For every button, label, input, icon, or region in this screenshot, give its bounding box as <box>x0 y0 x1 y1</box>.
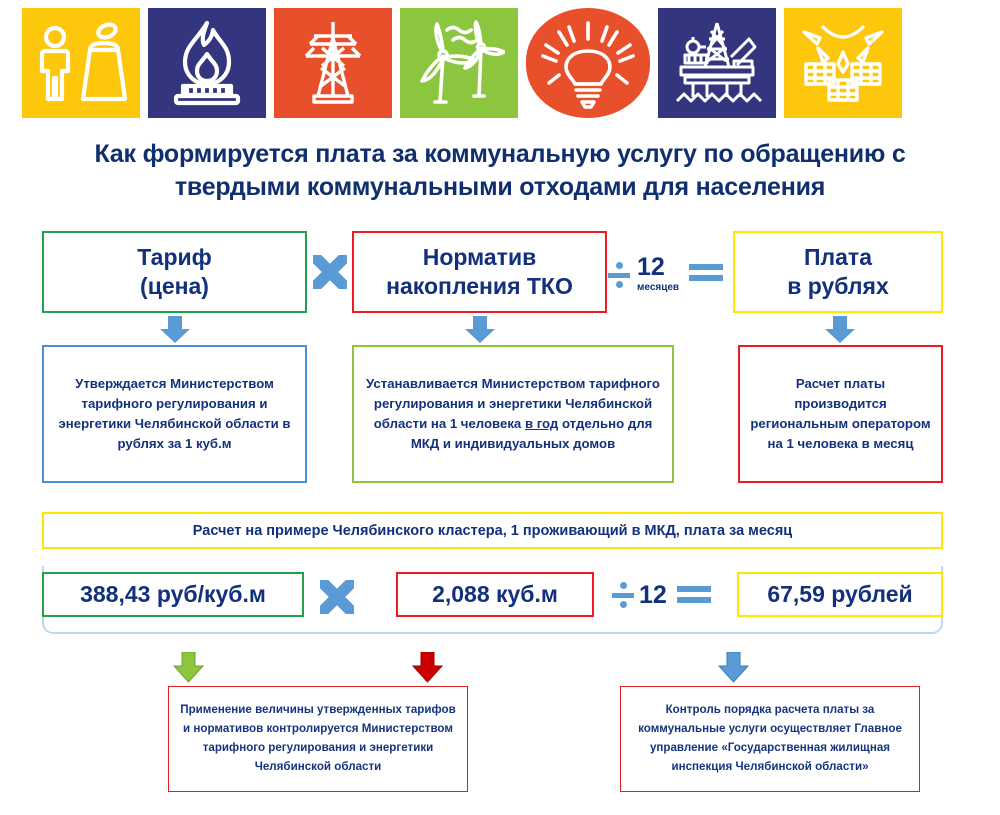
tile-light-bulb <box>526 8 650 118</box>
detail-box-tariff: Утверждается Министерством тарифного рег… <box>42 345 307 483</box>
gas-flame-burner-icon <box>161 18 253 108</box>
formula-box-plata: Плата в рублях <box>733 231 943 313</box>
divisor-unit: месяцев <box>637 282 679 293</box>
tile-offshore-oil-rig <box>658 8 776 118</box>
example-value-normativ: 2,088 куб.м <box>396 572 594 617</box>
detail-normativ-text-underline: в год <box>525 416 558 431</box>
divide-icon <box>608 260 630 290</box>
formula-box-tariff: Тариф (цена) <box>42 231 307 313</box>
tariff-label-line1: Тариф <box>137 244 212 270</box>
example-tariff-text: 388,43 руб/куб.м <box>80 581 266 608</box>
person-cooling-tower-icon <box>35 20 127 106</box>
divide-by-12-group-example: 12 <box>612 580 711 610</box>
footer-box-right: Контроль порядка расчета платы за коммун… <box>620 686 920 792</box>
example-value-tariff: 388,43 руб/куб.м <box>42 572 304 617</box>
plata-label-line1: Плата <box>804 244 872 270</box>
divisor-value: 12 <box>637 255 679 280</box>
normativ-label-line1: Норматив <box>423 244 536 270</box>
tile-wind-turbines <box>400 8 518 118</box>
normativ-label-line2: накопления ТКО <box>386 273 573 299</box>
example-result-text: 67,59 рублей <box>767 581 912 608</box>
example-normativ-text: 2,088 куб.м <box>432 581 558 608</box>
equals-icon <box>689 264 723 282</box>
detail-plata-text: Расчет платы производится региональным о… <box>748 374 933 454</box>
light-bulb-icon <box>539 13 637 113</box>
tile-power-tower <box>274 8 392 118</box>
arrow-down-tariff-icon <box>157 316 193 344</box>
arrow-down-red-icon <box>411 652 445 684</box>
tile-person-cooling-tower <box>22 8 140 118</box>
tile-gas-flame <box>148 8 266 118</box>
multiply-icon <box>313 255 347 289</box>
arrow-down-normativ-icon <box>462 316 498 344</box>
footer-box-left: Применение величины утвержденных тарифов… <box>168 686 468 792</box>
example-banner: Расчет на примере Челябинского кластера,… <box>42 512 943 549</box>
example-banner-text: Расчет на примере Челябинского кластера,… <box>193 523 792 539</box>
arrow-down-blue-icon <box>717 652 751 684</box>
solar-panels-sun-icon <box>796 18 890 108</box>
tariff-label-line2: (цена) <box>140 273 209 299</box>
plata-label-line2: в рублях <box>787 273 889 299</box>
example-divisor: 12 <box>639 583 667 608</box>
header-banner <box>0 0 1000 125</box>
formula-box-normativ: Норматив накопления ТКО <box>352 231 607 313</box>
equals-icon-example <box>677 586 711 604</box>
power-transmission-tower-icon <box>288 18 378 108</box>
detail-box-plata: Расчет платы производится региональным о… <box>738 345 943 483</box>
tile-solar-panels <box>784 8 902 118</box>
wind-turbines-icon <box>413 18 505 108</box>
example-value-result: 67,59 рублей <box>737 572 943 617</box>
detail-box-normativ: Устанавливается Министерством тарифного … <box>352 345 674 483</box>
offshore-oil-rig-icon <box>671 17 763 109</box>
detail-tariff-text: Утверждается Министерством тарифного рег… <box>52 374 297 454</box>
divide-icon-example <box>612 580 634 610</box>
multiply-icon-example <box>320 580 354 614</box>
divide-by-12-group: 12 месяцев <box>608 255 723 293</box>
footer-right-text: Контроль порядка расчета платы за коммун… <box>631 701 909 776</box>
page-title: Как формируется плата за коммунальную ус… <box>60 138 940 203</box>
footer-left-text: Применение величины утвержденных тарифов… <box>179 701 457 776</box>
arrow-down-green-icon <box>172 652 206 684</box>
arrow-down-plata-icon <box>822 316 858 344</box>
